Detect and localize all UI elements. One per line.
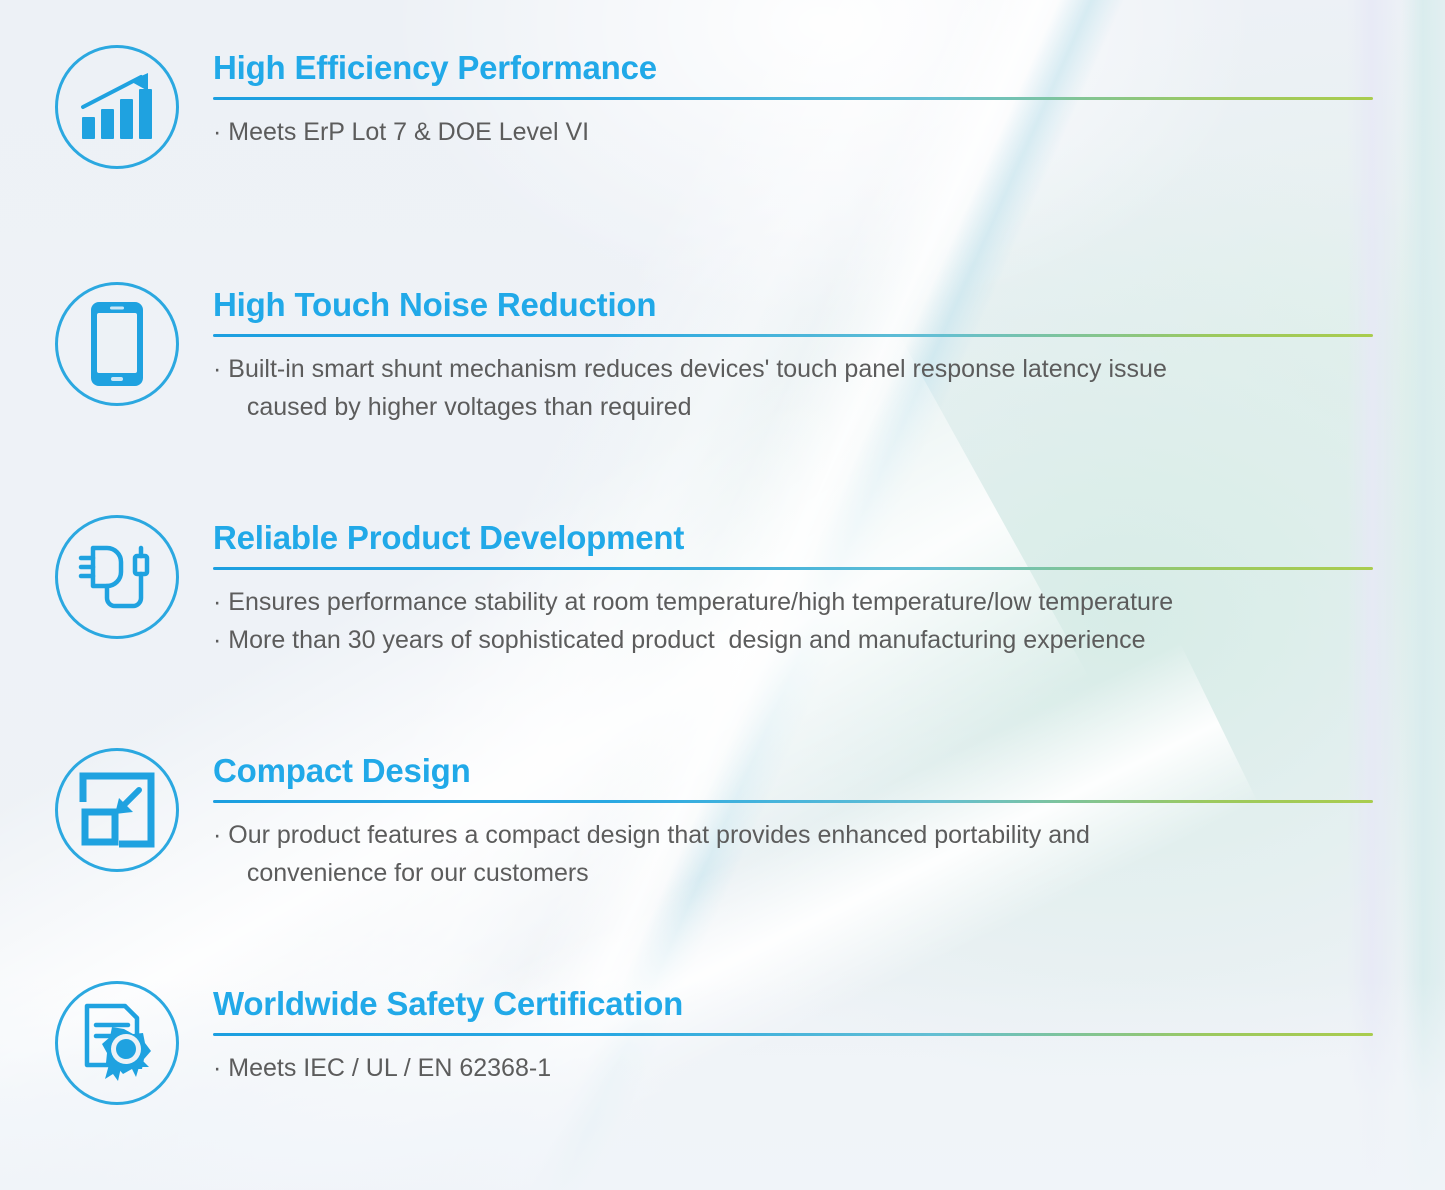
feature-title: Compact Design — [213, 754, 1373, 789]
feature-bullets: · Our product features a compact design … — [213, 814, 1373, 892]
feature-item-reliable-product-development: Reliable Product Development · Ensures p… — [0, 515, 1373, 659]
feature-divider — [213, 334, 1373, 337]
feature-title: Worldwide Safety Certification — [213, 987, 1373, 1022]
feature-list: High Efficiency Performance · Meets ErP … — [0, 0, 1445, 1190]
feature-divider — [213, 800, 1373, 803]
feature-bullets: · Built-in smart shunt mechanism reduces… — [213, 348, 1373, 426]
feature-divider — [213, 567, 1373, 570]
feature-divider — [213, 97, 1373, 100]
feature-body: Compact Design · Our product features a … — [213, 748, 1373, 892]
certificate-seal-icon — [55, 981, 179, 1105]
compact-resize-icon — [55, 748, 179, 872]
feature-bullet: · Built-in smart shunt mechanism reduces… — [213, 350, 1373, 426]
power-adapter-icon — [55, 515, 179, 639]
feature-bullets: · Meets IEC / UL / EN 62368-1 — [213, 1047, 1373, 1087]
feature-bullets: · Ensures performance stability at room … — [213, 581, 1373, 659]
feature-item-compact-design: Compact Design · Our product features a … — [0, 748, 1373, 892]
feature-body: High Efficiency Performance · Meets ErP … — [213, 45, 1373, 151]
feature-bullet: · Meets IEC / UL / EN 62368-1 — [213, 1049, 1373, 1087]
feature-title: High Efficiency Performance — [213, 51, 1373, 86]
feature-bullet: · More than 30 years of sophisticated pr… — [213, 621, 1373, 659]
feature-body: High Touch Noise Reduction · Built-in sm… — [213, 282, 1373, 426]
feature-item-high-efficiency-performance: High Efficiency Performance · Meets ErP … — [0, 45, 1373, 169]
feature-title: Reliable Product Development — [213, 521, 1373, 556]
feature-body: Worldwide Safety Certification · Meets I… — [213, 981, 1373, 1087]
feature-body: Reliable Product Development · Ensures p… — [213, 515, 1373, 659]
feature-bullets: · Meets ErP Lot 7 & DOE Level VI — [213, 111, 1373, 151]
feature-item-worldwide-safety-certification: Worldwide Safety Certification · Meets I… — [0, 981, 1373, 1105]
feature-bullet: · Our product features a compact design … — [213, 816, 1373, 892]
feature-divider — [213, 1033, 1373, 1036]
bar-chart-growth-icon — [55, 45, 179, 169]
feature-item-high-touch-noise-reduction: High Touch Noise Reduction · Built-in sm… — [0, 282, 1373, 426]
feature-bullet: · Meets ErP Lot 7 & DOE Level VI — [213, 113, 1373, 151]
feature-title: High Touch Noise Reduction — [213, 288, 1373, 323]
smartphone-icon — [55, 282, 179, 406]
feature-bullet: · Ensures performance stability at room … — [213, 583, 1373, 621]
